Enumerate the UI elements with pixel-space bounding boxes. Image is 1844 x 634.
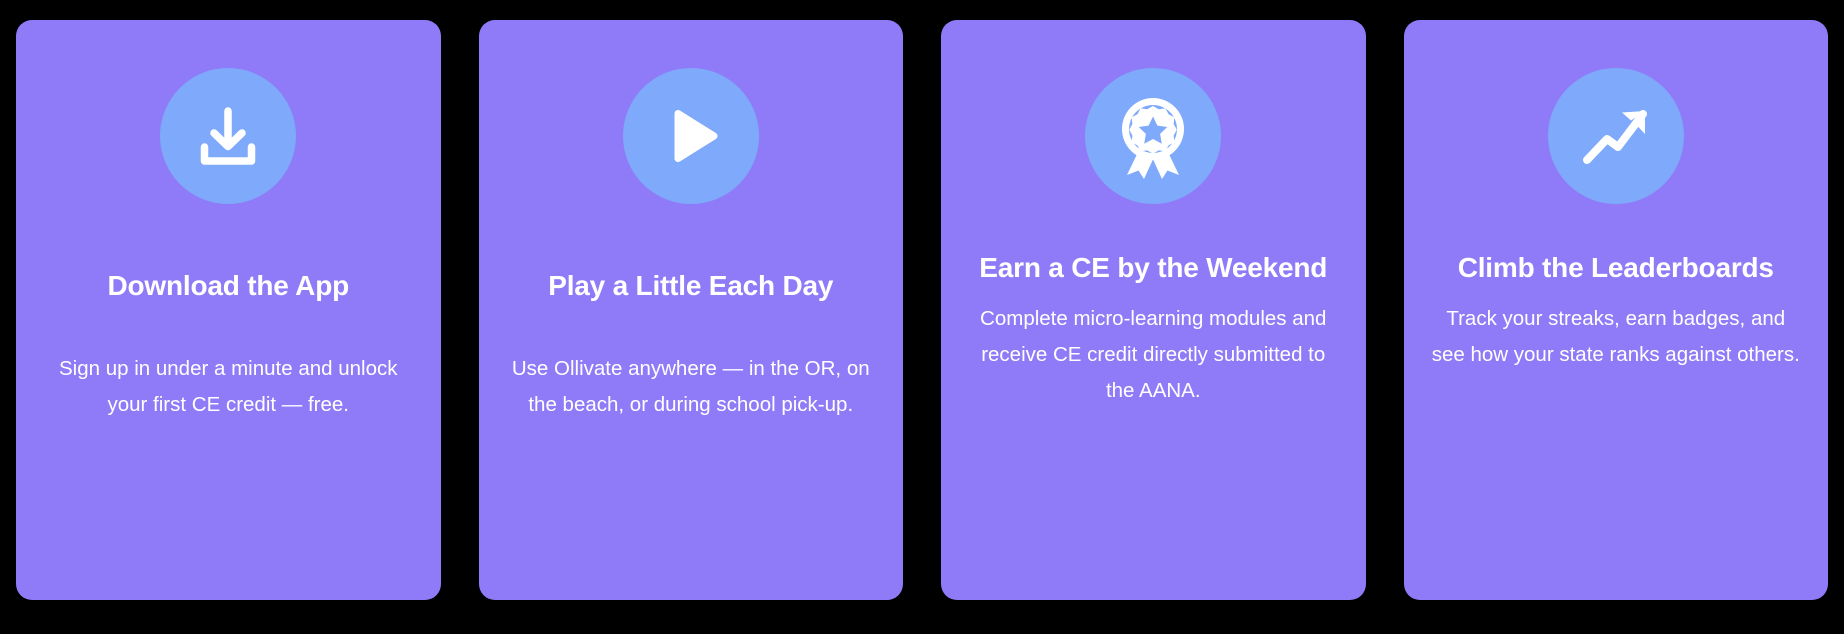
feature-card-download[interactable]: Download the App Sign up in under a minu… [16,20,441,600]
card-body: Complete micro-learning modules and rece… [967,301,1340,409]
card-title: Earn a CE by the Weekend [967,246,1340,291]
card-title: Climb the Leaderboards [1430,246,1803,291]
card-body: Sign up in under a minute and unlock you… [42,351,415,423]
card-title: Play a Little Each Day [505,264,878,309]
card-body: Use Ollivate anywhere — in the OR, on th… [505,351,878,423]
card-body: Track your streaks, earn badges, and see… [1430,301,1803,373]
feature-cards-row: Download the App Sign up in under a minu… [0,0,1844,634]
trending-up-icon [1548,68,1684,204]
feature-card-leaderboards[interactable]: Climb the Leaderboards Track your streak… [1404,20,1829,600]
feature-card-award[interactable]: Earn a CE by the Weekend Complete micro-… [941,20,1366,600]
download-icon [160,68,296,204]
award-badge-icon [1085,68,1221,204]
card-title: Download the App [42,264,415,309]
play-icon [623,68,759,204]
feature-card-play[interactable]: Play a Little Each Day Use Ollivate anyw… [479,20,904,600]
